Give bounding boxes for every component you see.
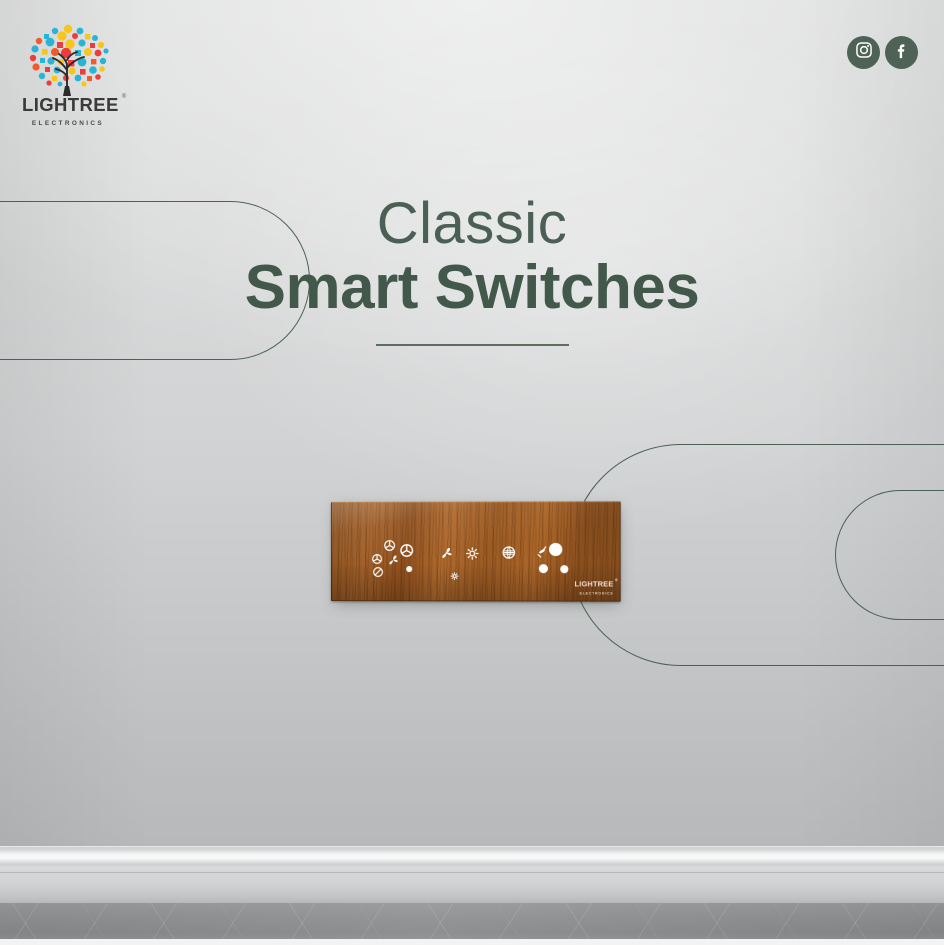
headline-line-2: Smart Switches: [0, 253, 944, 322]
logo-wordmark: LIGHTREE® ELECTRONICS: [22, 96, 114, 127]
poster-bottom-edge: [0, 939, 944, 945]
instagram-button[interactable]: [847, 36, 880, 69]
logo-tagline: ELECTRONICS: [22, 120, 114, 127]
headline-block: Classic Smart Switches: [0, 194, 944, 346]
poster-canvas: LIGHTREE® ELECTRONICS Classic Sma: [0, 0, 944, 945]
panel-edge-highlight: [331, 501, 621, 601]
skirting-board: [0, 846, 944, 905]
dotted-tree-icon: [22, 18, 114, 96]
logo-name: LIGHTREE®: [22, 96, 119, 115]
instagram-icon: [855, 41, 873, 64]
brand-logo[interactable]: LIGHTREE® ELECTRONICS: [22, 18, 114, 126]
facebook-icon: [892, 41, 911, 65]
social-links: [847, 36, 918, 69]
headline-divider: [376, 344, 569, 346]
skirting-top-highlight: [0, 846, 944, 848]
panel-body: LIGHTREE® ELECTRONICS: [331, 501, 621, 601]
logo-registered-mark: ®: [122, 94, 127, 100]
facebook-button[interactable]: [885, 36, 918, 69]
skirting-groove: [0, 872, 944, 874]
headline-line-1: Classic: [0, 194, 944, 255]
smart-switch-panel[interactable]: LIGHTREE® ELECTRONICS: [331, 500, 619, 604]
